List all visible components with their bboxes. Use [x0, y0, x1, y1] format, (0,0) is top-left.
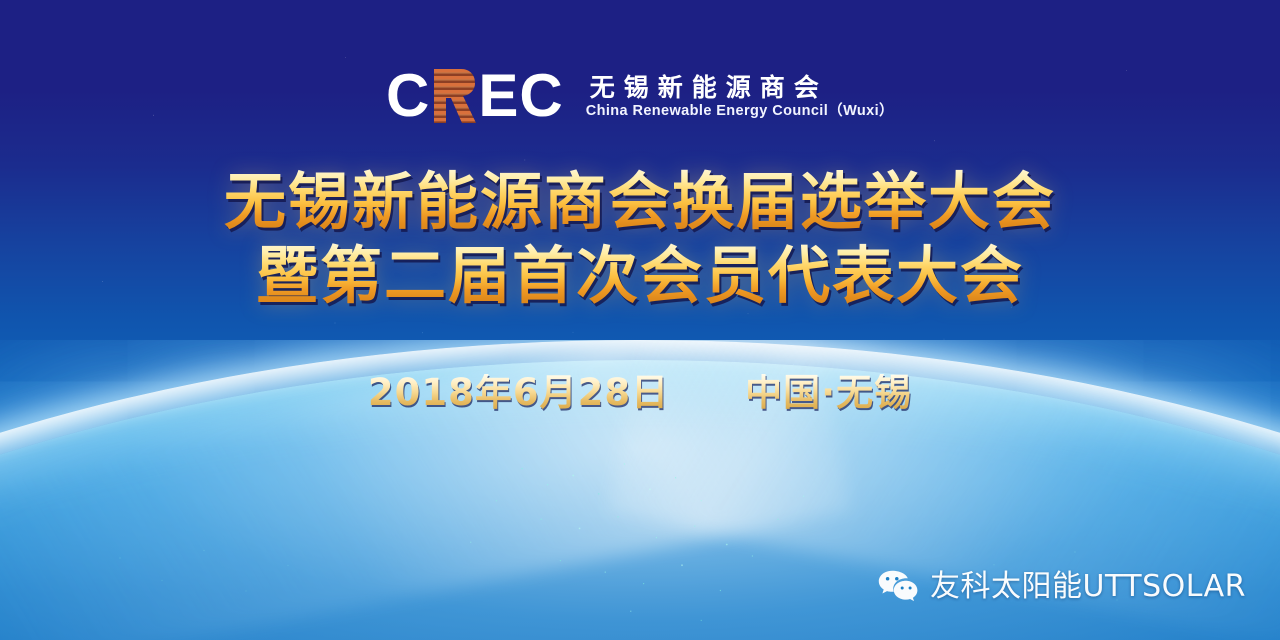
- watermark-text: 友科太阳能UTTSOLAR: [930, 572, 1246, 602]
- event-location: 中国·无锡: [745, 374, 912, 411]
- event-meta: 2018年6月28日 中国·无锡: [0, 374, 1280, 411]
- event-title-line-1: 无锡新能源商会换届选举大会: [0, 168, 1280, 236]
- crec-letter-c: C: [386, 66, 430, 126]
- crec-letters-ec: EC: [478, 66, 563, 126]
- crec-logo: C: [0, 66, 1280, 126]
- crec-chinese-name: 无锡新能源商会: [586, 75, 894, 100]
- banner-content: C: [0, 0, 1280, 640]
- event-title-line-2: 暨第二届首次会员代表大会: [0, 242, 1280, 310]
- crec-english-name: China Renewable Energy Council（Wuxi）: [586, 104, 894, 119]
- event-date: 2018年6月28日: [368, 374, 669, 411]
- watermark: 友科太阳能UTTSOLAR: [878, 570, 1246, 604]
- conference-banner: C: [0, 0, 1280, 640]
- wechat-icon: [878, 570, 918, 604]
- crec-letter-r-solar-icon: [431, 67, 477, 125]
- crec-wordmark: 无锡新能源商会 China Renewable Energy Council（W…: [586, 73, 894, 119]
- crec-acronym: C: [386, 66, 564, 126]
- event-title: 无锡新能源商会换届选举大会 暨第二届首次会员代表大会: [0, 168, 1280, 310]
